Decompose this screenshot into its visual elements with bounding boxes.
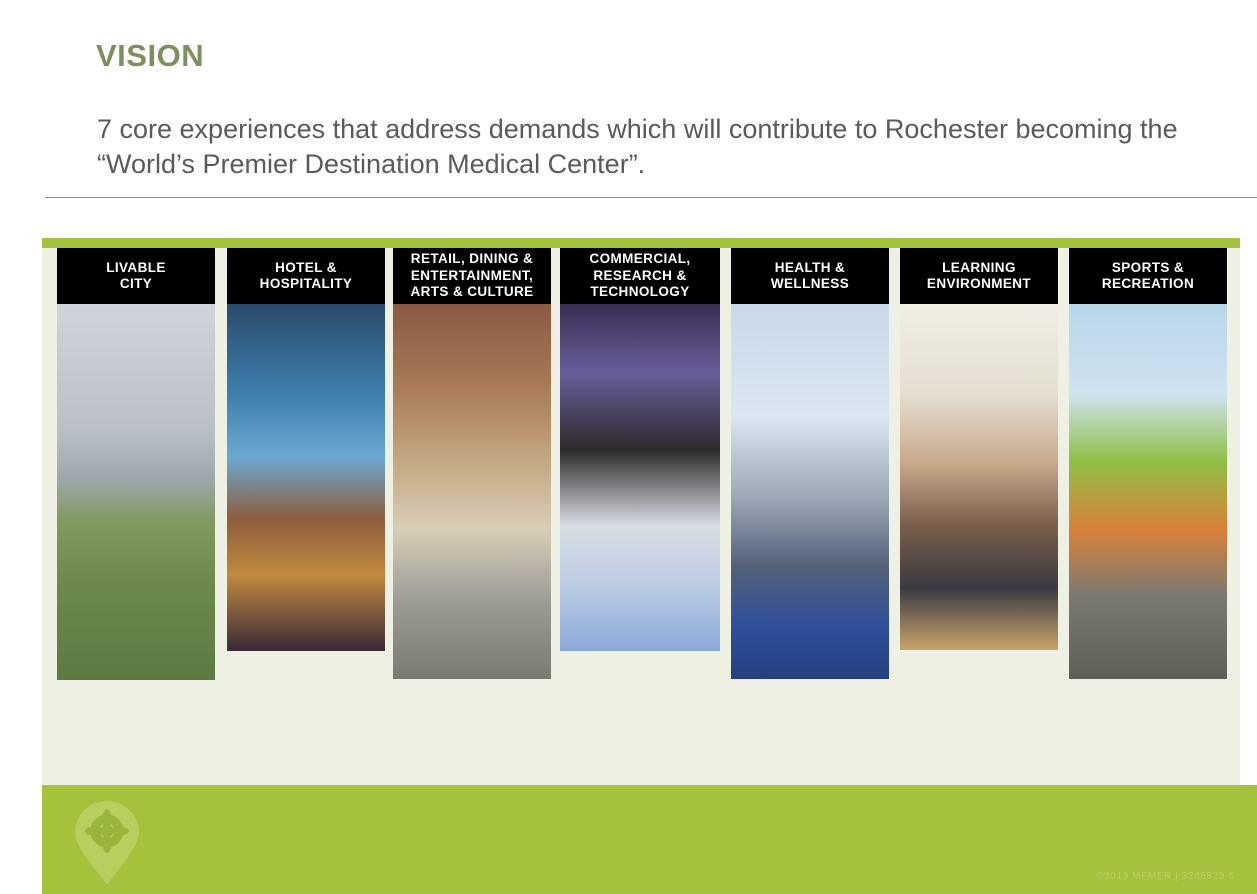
footer-bar: ©2013 MFMER | 3246823-6 bbox=[42, 785, 1257, 894]
column-header-livable-city: LIVABLECITY bbox=[57, 248, 215, 304]
location-pin-logo-icon bbox=[68, 797, 146, 889]
column-header-line: ENVIRONMENT bbox=[927, 276, 1031, 293]
column-header-line: HEALTH & bbox=[771, 260, 849, 277]
column-header-line: TECHNOLOGY bbox=[589, 284, 690, 301]
column-header-commercial-research: COMMERCIAL,RESEARCH &TECHNOLOGY bbox=[560, 248, 720, 304]
column-photo-commercial-research bbox=[560, 304, 720, 651]
column-header-retail-dining: RETAIL, DINING &ENTERTAINMENT,ARTS & CUL… bbox=[393, 248, 551, 304]
experience-column-hotel-hospitality[interactable]: HOTEL &HOSPITALITY bbox=[227, 248, 385, 651]
experience-column-livable-city[interactable]: LIVABLECITY bbox=[57, 248, 215, 680]
column-header-health-wellness: HEALTH &WELLNESS bbox=[731, 248, 889, 304]
column-photo-retail-dining bbox=[393, 304, 551, 679]
column-header-line: HOSPITALITY bbox=[260, 276, 353, 293]
page-title: VISION bbox=[96, 38, 204, 74]
experience-column-learning-environment[interactable]: LEARNINGENVIRONMENT bbox=[900, 248, 1058, 650]
title-divider bbox=[45, 197, 1257, 198]
experience-column-health-wellness[interactable]: HEALTH &WELLNESS bbox=[731, 248, 889, 679]
column-header-learning-environment: LEARNINGENVIRONMENT bbox=[900, 248, 1058, 304]
column-photo-health-wellness bbox=[731, 304, 889, 679]
column-header-line: CITY bbox=[106, 276, 166, 293]
column-header-line: RECREATION bbox=[1102, 276, 1194, 293]
experiences-panel-inner: LIVABLECITYHOTEL &HOSPITALITYRETAIL, DIN… bbox=[42, 248, 1240, 785]
copyright-text: ©2013 MFMER | 3246823-6 bbox=[1096, 871, 1235, 882]
slide-subtitle: 7 core experiences that address demands … bbox=[97, 112, 1217, 182]
column-header-line: ENTERTAINMENT, bbox=[410, 268, 533, 285]
column-header-line: COMMERCIAL, bbox=[589, 251, 690, 268]
column-header-sports-recreation: SPORTS &RECREATION bbox=[1069, 248, 1227, 304]
column-header-line: LEARNING bbox=[927, 260, 1031, 277]
experiences-panel: LIVABLECITYHOTEL &HOSPITALITYRETAIL, DIN… bbox=[42, 238, 1240, 785]
column-photo-livable-city bbox=[57, 304, 215, 680]
column-header-line: HOTEL & bbox=[260, 260, 353, 277]
column-header-line: LIVABLE bbox=[106, 260, 166, 277]
column-header-line: RESEARCH & bbox=[589, 268, 690, 285]
experience-column-retail-dining[interactable]: RETAIL, DINING &ENTERTAINMENT,ARTS & CUL… bbox=[393, 248, 551, 679]
column-header-line: ARTS & CULTURE bbox=[410, 284, 533, 301]
column-photo-hotel-hospitality bbox=[227, 304, 385, 651]
column-header-hotel-hospitality: HOTEL &HOSPITALITY bbox=[227, 248, 385, 304]
column-photo-sports-recreation bbox=[1069, 304, 1227, 679]
experience-column-sports-recreation[interactable]: SPORTS &RECREATION bbox=[1069, 248, 1227, 679]
column-header-line: RETAIL, DINING & bbox=[410, 251, 533, 268]
experience-column-commercial-research[interactable]: COMMERCIAL,RESEARCH &TECHNOLOGY bbox=[560, 248, 720, 651]
column-header-line: WELLNESS bbox=[771, 276, 849, 293]
column-header-line: SPORTS & bbox=[1102, 260, 1194, 277]
column-photo-learning-environment bbox=[900, 304, 1058, 650]
